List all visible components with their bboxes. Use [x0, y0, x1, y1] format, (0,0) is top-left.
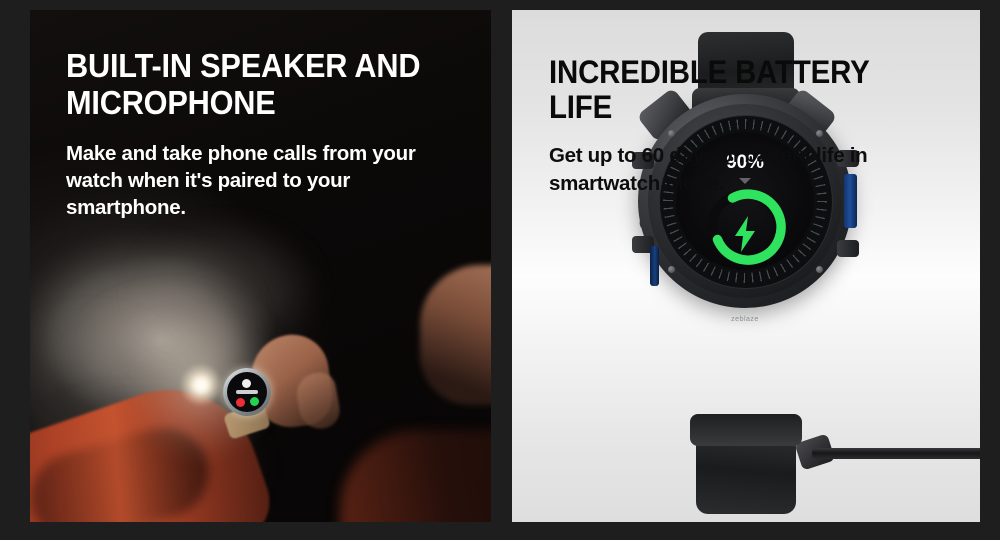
- accept-call-icon: [250, 397, 259, 406]
- watch-lower-button[interactable]: [837, 240, 859, 257]
- left-subheadline: Make and take phone calls from your watc…: [66, 140, 446, 222]
- wrist-watch-screen: [227, 372, 267, 412]
- wrist-smartwatch: [223, 368, 271, 416]
- caller-avatar-icon: [242, 379, 251, 388]
- lightning-bolt-icon: [731, 214, 759, 254]
- caller-name-placeholder: [236, 390, 258, 394]
- left-text-block: BUILT-IN SPEAKER AND MICROPHONE Make and…: [66, 48, 466, 222]
- case-screw: [816, 266, 823, 273]
- panel-battery-life: INCREDIBLE BATTERY LIFE Get up to 60 day…: [512, 10, 980, 522]
- decline-call-icon: [236, 398, 245, 407]
- left-headline: BUILT-IN SPEAKER AND MICROPHONE: [66, 48, 438, 122]
- watch-strap-bottom-segment: [690, 414, 802, 446]
- watch-accent-button-left[interactable]: [650, 246, 659, 286]
- right-subheadline: Get up to 60 days of battery life in sma…: [549, 142, 949, 197]
- right-headline: INCREDIBLE BATTERY LIFE: [549, 55, 935, 125]
- panel-speaker-microphone: BUILT-IN SPEAKER AND MICROPHONE Make and…: [30, 10, 491, 522]
- lamp-flare: [180, 364, 222, 406]
- promo-banner: BUILT-IN SPEAKER AND MICROPHONE Make and…: [0, 0, 1000, 540]
- case-screw: [668, 266, 675, 273]
- right-text-block: INCREDIBLE BATTERY LIFE Get up to 60 day…: [549, 55, 969, 197]
- watch-brand-logo: zeblaze: [731, 316, 759, 323]
